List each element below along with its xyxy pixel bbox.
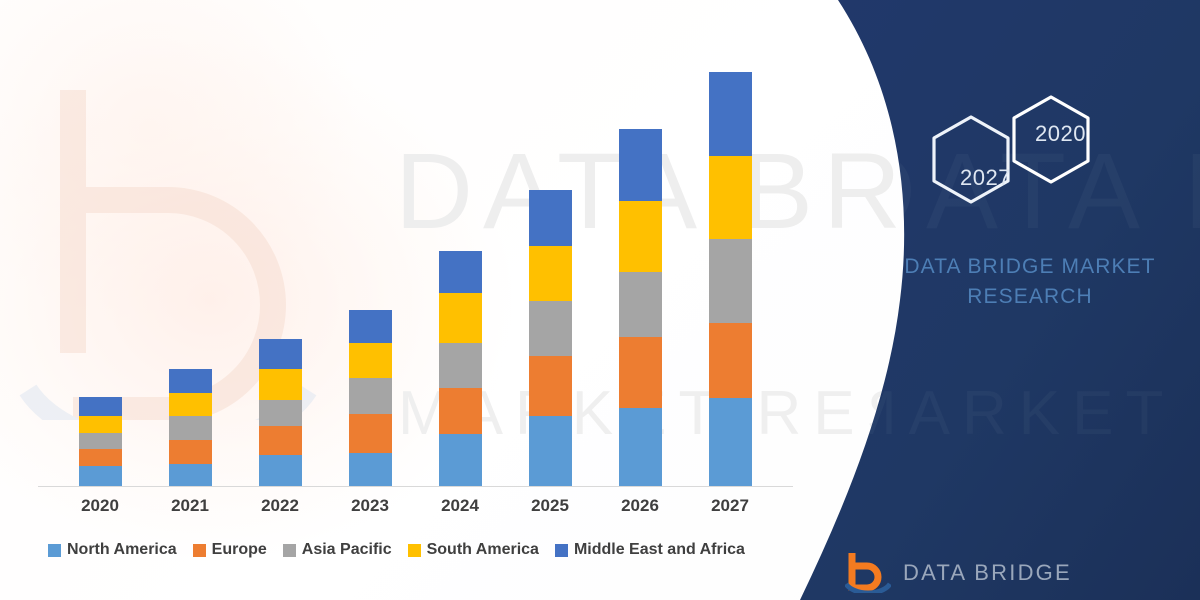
bar-segment[interactable] <box>349 310 392 343</box>
bar-segment[interactable] <box>79 397 122 416</box>
bar-segment[interactable] <box>169 464 212 486</box>
bar-segment[interactable] <box>259 455 302 486</box>
stacked-bar[interactable] <box>259 339 302 486</box>
bar-slot-2023 <box>325 60 415 486</box>
bar-segment[interactable] <box>79 433 122 450</box>
x-tick-2027: 2027 <box>685 496 775 516</box>
bar-slot-2024 <box>415 60 505 486</box>
bar-segment[interactable] <box>529 190 572 246</box>
stacked-bar[interactable] <box>529 190 572 486</box>
bar-segment[interactable] <box>259 400 302 426</box>
legend-swatch-icon <box>193 544 206 557</box>
bar-segment[interactable] <box>439 251 482 294</box>
x-tick-2023: 2023 <box>325 496 415 516</box>
bar-segment[interactable] <box>259 369 302 400</box>
x-tick-2021: 2021 <box>145 496 235 516</box>
bar-segment[interactable] <box>79 449 122 466</box>
company-name-line1: DATA BRIDGE MARKET <box>880 252 1180 282</box>
stacked-bar[interactable] <box>349 310 392 486</box>
data-bridge-logo-icon <box>845 553 891 593</box>
bar-segment[interactable] <box>619 201 662 272</box>
bar-slot-2025 <box>505 60 595 486</box>
stacked-bar[interactable] <box>709 72 752 486</box>
bar-segment[interactable] <box>529 301 572 355</box>
company-name-line2: RESEARCH <box>880 282 1180 312</box>
bar-segment[interactable] <box>619 337 662 408</box>
bar-segment[interactable] <box>529 356 572 416</box>
bar-segment[interactable] <box>709 323 752 399</box>
legend-label: Asia Pacific <box>302 541 392 559</box>
stacked-bar[interactable] <box>619 129 662 486</box>
stacked-bar[interactable] <box>79 397 122 486</box>
bar-segment[interactable] <box>169 416 212 440</box>
x-axis-line <box>38 486 793 487</box>
footer-logo: DATA BRIDGE <box>845 553 1072 593</box>
stacked-bar[interactable] <box>439 251 482 486</box>
legend-item[interactable]: Middle East and Africa <box>555 541 745 559</box>
bar-segment[interactable] <box>709 156 752 239</box>
bar-slot-2027 <box>685 60 775 486</box>
bar-segment[interactable] <box>709 72 752 156</box>
hexagon-outline-icon <box>925 95 1125 220</box>
legend-item[interactable]: North America <box>48 541 177 559</box>
bar-segment[interactable] <box>259 339 302 369</box>
chart-legend: North AmericaEuropeAsia PacificSouth Ame… <box>48 541 745 559</box>
bar-segment[interactable] <box>259 426 302 456</box>
bar-series-container <box>55 60 795 486</box>
legend-item[interactable]: Asia Pacific <box>283 541 392 559</box>
bar-segment[interactable] <box>439 293 482 343</box>
x-tick-2020: 2020 <box>55 496 145 516</box>
x-tick-2022: 2022 <box>235 496 325 516</box>
bar-segment[interactable] <box>79 466 122 486</box>
company-name: DATA BRIDGE MARKET RESEARCH <box>880 252 1180 312</box>
bar-segment[interactable] <box>709 239 752 323</box>
bar-segment[interactable] <box>529 246 572 302</box>
x-axis-tick-labels: 20202021202220232024202520262027 <box>55 496 795 516</box>
bar-slot-2021 <box>145 60 235 486</box>
stacked-bar-chart: 20202021202220232024202520262027 North A… <box>0 0 800 600</box>
legend-label: South America <box>427 541 539 559</box>
bar-slot-2022 <box>235 60 325 486</box>
legend-label: Europe <box>212 541 267 559</box>
legend-swatch-icon <box>48 544 61 557</box>
bar-segment[interactable] <box>619 272 662 337</box>
bar-segment[interactable] <box>439 434 482 486</box>
hexagon-badges: 2027 2020 <box>925 95 1125 220</box>
legend-swatch-icon <box>408 544 421 557</box>
x-tick-2026: 2026 <box>595 496 685 516</box>
bar-segment[interactable] <box>349 343 392 379</box>
bar-segment[interactable] <box>709 398 752 486</box>
legend-label: Middle East and Africa <box>574 541 745 559</box>
stacked-bar[interactable] <box>169 369 212 486</box>
legend-item[interactable]: South America <box>408 541 539 559</box>
bar-segment[interactable] <box>619 408 662 486</box>
legend-item[interactable]: Europe <box>193 541 267 559</box>
bar-segment[interactable] <box>349 453 392 486</box>
bar-segment[interactable] <box>169 393 212 417</box>
legend-swatch-icon <box>283 544 296 557</box>
bar-segment[interactable] <box>349 378 392 414</box>
legend-label: North America <box>67 541 177 559</box>
bar-slot-2026 <box>595 60 685 486</box>
bar-segment[interactable] <box>79 416 122 433</box>
bar-segment[interactable] <box>439 343 482 388</box>
hex-label-start-year: 2027 <box>960 165 1011 191</box>
hex-label-end-year: 2020 <box>1035 121 1086 147</box>
x-tick-2025: 2025 <box>505 496 595 516</box>
bar-segment[interactable] <box>349 414 392 453</box>
bar-segment[interactable] <box>619 129 662 201</box>
footer-logo-text: DATA BRIDGE <box>903 560 1072 586</box>
chart-screenshot: DATA BRIDGE MARKET RESEARCH 202020212022… <box>0 0 1200 600</box>
legend-swatch-icon <box>555 544 568 557</box>
bar-segment[interactable] <box>529 416 572 486</box>
bar-segment[interactable] <box>439 388 482 434</box>
bar-segment[interactable] <box>169 369 212 393</box>
bar-slot-2020 <box>55 60 145 486</box>
bar-segment[interactable] <box>169 440 212 464</box>
x-tick-2024: 2024 <box>415 496 505 516</box>
